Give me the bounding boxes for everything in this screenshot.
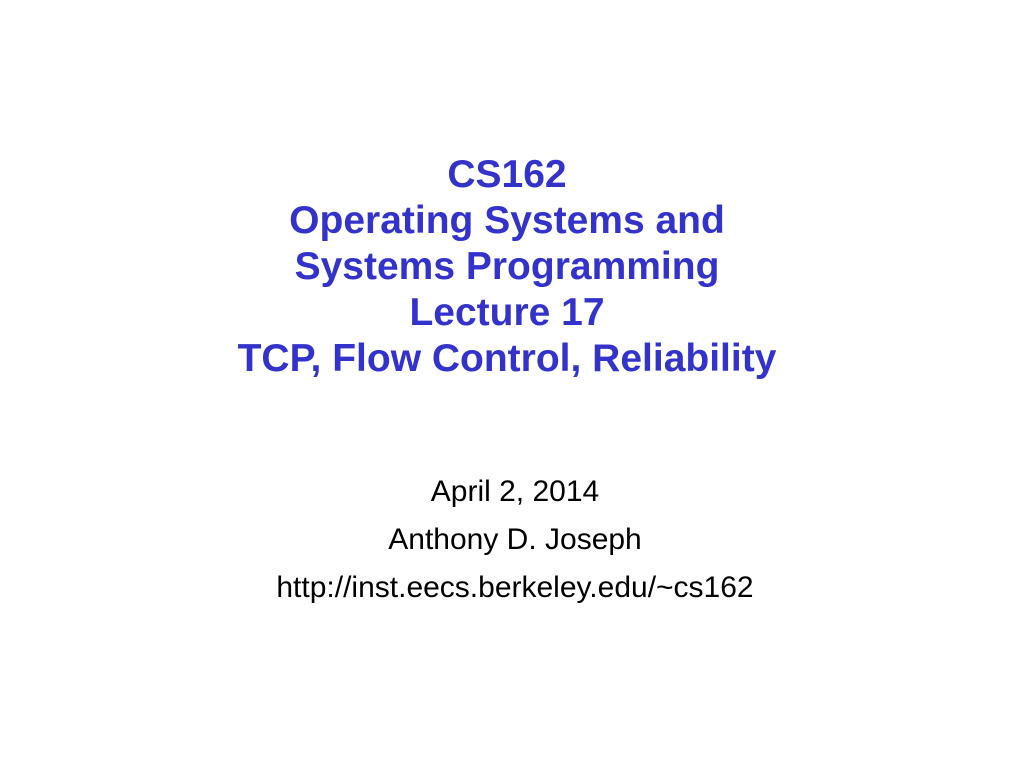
slide-title: CS162 Operating Systems and Systems Prog… xyxy=(0,152,1024,382)
slide-subtitle: April 2, 2014 Anthony D. Joseph http://i… xyxy=(0,468,1024,612)
title-line-course-code: CS162 xyxy=(0,152,1019,198)
lecture-date: April 2, 2014 xyxy=(3,468,1024,516)
title-line-course-name-2: Systems Programming xyxy=(0,244,1019,290)
title-line-lecture-number: Lecture 17 xyxy=(0,290,1019,336)
title-line-course-name-1: Operating Systems and xyxy=(0,198,1019,244)
course-url: http://inst.eecs.berkeley.edu/~cs162 xyxy=(3,564,1024,612)
title-line-lecture-topic: TCP, Flow Control, Reliability xyxy=(0,336,1019,382)
instructor-name: Anthony D. Joseph xyxy=(3,516,1024,564)
slide-canvas: CS162 Operating Systems and Systems Prog… xyxy=(0,0,1024,768)
